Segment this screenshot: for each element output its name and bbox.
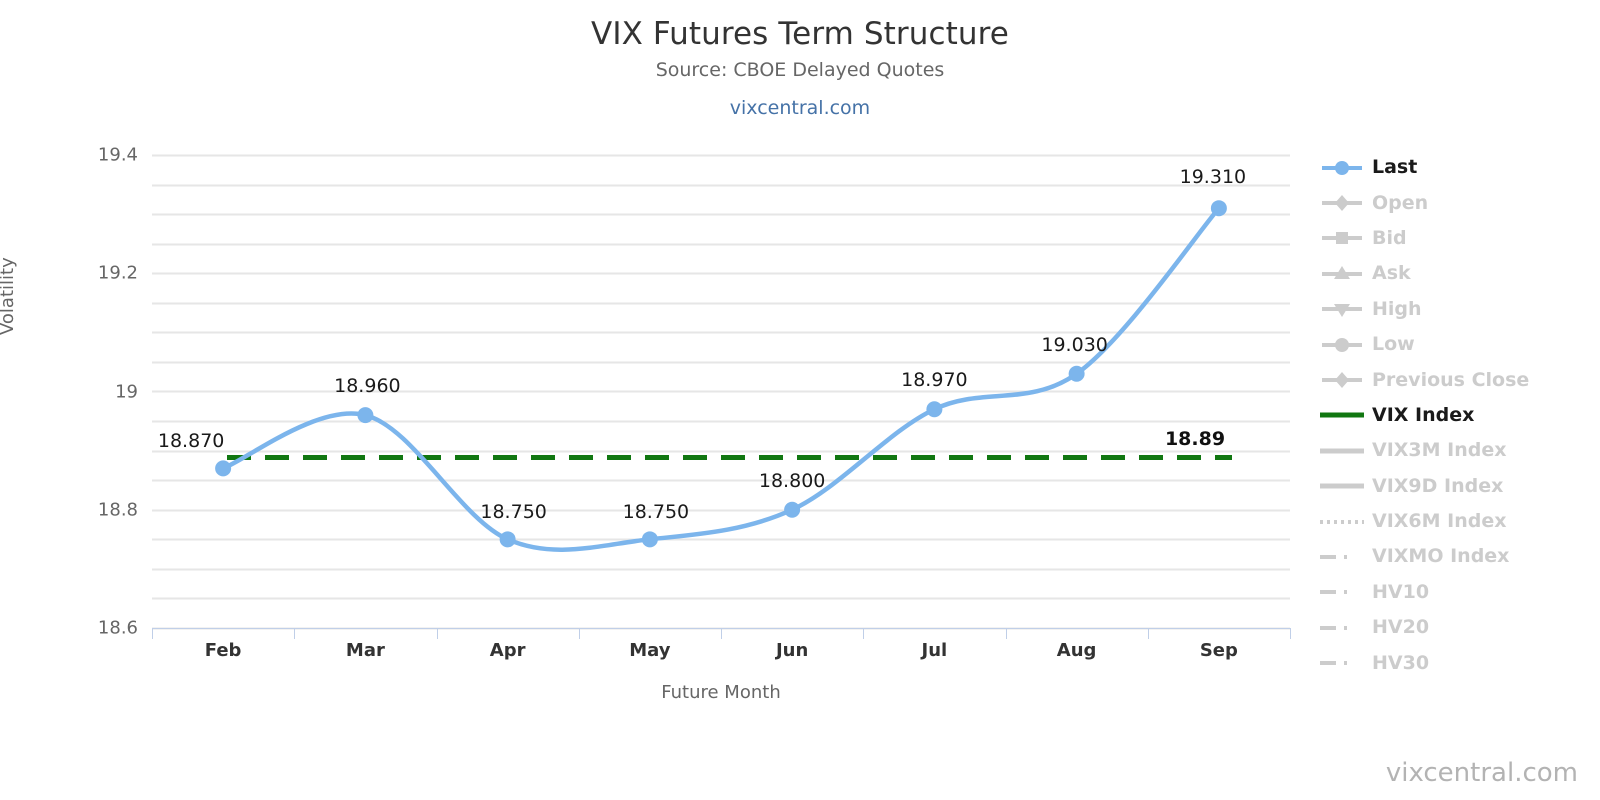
y-axis-tick-label: 19.2 (48, 263, 138, 284)
legend-item-label: Bid (1372, 229, 1407, 248)
y-axis-tick-label: 19 (48, 381, 138, 402)
y-axis-tick-label: 19.4 (48, 145, 138, 166)
legend-item-label: Previous Close (1372, 371, 1529, 390)
legend-item-label: HV20 (1372, 618, 1429, 637)
legend-item-label: VIX9D Index (1372, 477, 1503, 496)
data-point-label: 18.750 (480, 501, 546, 523)
triangle-down-marker-line-icon (1320, 299, 1364, 319)
data-point-label: 18.800 (759, 470, 825, 492)
solid-line-icon (1320, 476, 1364, 496)
data-point-label: 18.870 (158, 430, 224, 452)
y-axis-title: Volatility (0, 257, 18, 335)
x-axis-tick-label: Jul (854, 640, 1014, 661)
dash-dot-line-icon (1320, 618, 1364, 638)
chart-legend: LastOpenBidAskHighLowPrevious CloseVIX I… (1320, 150, 1600, 681)
legend-item-hv10[interactable]: HV10 (1320, 575, 1600, 610)
legend-item-hv30[interactable]: HV30 (1320, 645, 1600, 680)
x-axis-tick-label: Sep (1139, 640, 1299, 661)
legend-item-label: VIX6M Index (1372, 512, 1507, 531)
legend-item-previous-close[interactable]: Previous Close (1320, 362, 1600, 397)
legend-item-vix6m-index[interactable]: VIX6M Index (1320, 504, 1600, 539)
legend-item-open[interactable]: Open (1320, 185, 1600, 220)
legend-item-vixmo-index[interactable]: VIXMO Index (1320, 539, 1600, 574)
dash-dot-line-icon (1320, 582, 1364, 602)
data-point-label: 19.310 (1180, 166, 1246, 188)
x-axis-tick-label: Apr (428, 640, 588, 661)
legend-item-high[interactable]: High (1320, 292, 1600, 327)
plot-area (152, 155, 1290, 628)
x-axis-title: Future Month (152, 682, 1290, 703)
legend-item-bid[interactable]: Bid (1320, 221, 1600, 256)
page-title: VIX Futures Term Structure (0, 16, 1600, 52)
legend-item-label: Open (1372, 194, 1428, 213)
legend-item-low[interactable]: Low (1320, 327, 1600, 362)
legend-item-label: VIX3M Index (1372, 441, 1507, 460)
legend-item-ask[interactable]: Ask (1320, 256, 1600, 291)
solid-line-icon (1320, 441, 1364, 461)
legend-item-label: Last (1372, 158, 1417, 177)
solid-line-icon (1320, 405, 1364, 425)
dotted-line-icon (1320, 512, 1364, 532)
circle-marker-line-icon (1320, 335, 1364, 355)
data-point-label: 18.750 (623, 501, 689, 523)
dash-dot-line-icon (1320, 547, 1364, 567)
legend-item-hv20[interactable]: HV20 (1320, 610, 1600, 645)
legend-item-label: High (1372, 300, 1422, 319)
plot-svg (152, 155, 1290, 628)
x-axis-tick-label: Jun (712, 640, 872, 661)
legend-item-last[interactable]: Last (1320, 150, 1600, 185)
legend-item-label: HV30 (1372, 654, 1429, 673)
last-series-markers (215, 200, 1227, 547)
legend-item-vix3m-index[interactable]: VIX3M Index (1320, 433, 1600, 468)
watermark: vixcentral.com (1386, 758, 1578, 788)
vix-index-value-label: 18.89 (1165, 428, 1225, 450)
circle-marker-line-icon (1320, 158, 1364, 178)
vixcentral-link[interactable]: vixcentral.com (0, 97, 1600, 119)
legend-item-vix-index[interactable]: VIX Index (1320, 398, 1600, 433)
legend-item-label: Low (1372, 335, 1415, 354)
diamond-marker-line-icon (1320, 193, 1364, 213)
legend-item-label: VIXMO Index (1372, 547, 1509, 566)
vix-term-structure-chart: VIX Futures Term Structure Source: CBOE … (0, 0, 1600, 800)
x-axis-tick-label: Mar (285, 640, 445, 661)
legend-item-label: VIX Index (1372, 406, 1474, 425)
x-axis-ticks (153, 628, 1291, 639)
legend-item-vix9d-index[interactable]: VIX9D Index (1320, 469, 1600, 504)
triangle-up-marker-line-icon (1320, 264, 1364, 284)
y-axis-tick-label: 18.8 (48, 499, 138, 520)
square-marker-line-icon (1320, 228, 1364, 248)
x-axis-tick-label: Feb (143, 640, 303, 661)
dash-dot-line-icon (1320, 653, 1364, 673)
diamond-marker-line-icon (1320, 370, 1364, 390)
gridlines (152, 156, 1290, 629)
data-point-label: 18.960 (334, 375, 400, 397)
x-axis-tick-label: Aug (997, 640, 1157, 661)
y-axis-tick-label: 18.6 (48, 618, 138, 639)
data-point-label: 18.970 (901, 369, 967, 391)
chart-subtitle: Source: CBOE Delayed Quotes (0, 59, 1600, 81)
legend-item-label: Ask (1372, 264, 1411, 283)
data-point-label: 19.030 (1041, 334, 1107, 356)
legend-item-label: HV10 (1372, 583, 1429, 602)
x-axis-tick-label: May (570, 640, 730, 661)
